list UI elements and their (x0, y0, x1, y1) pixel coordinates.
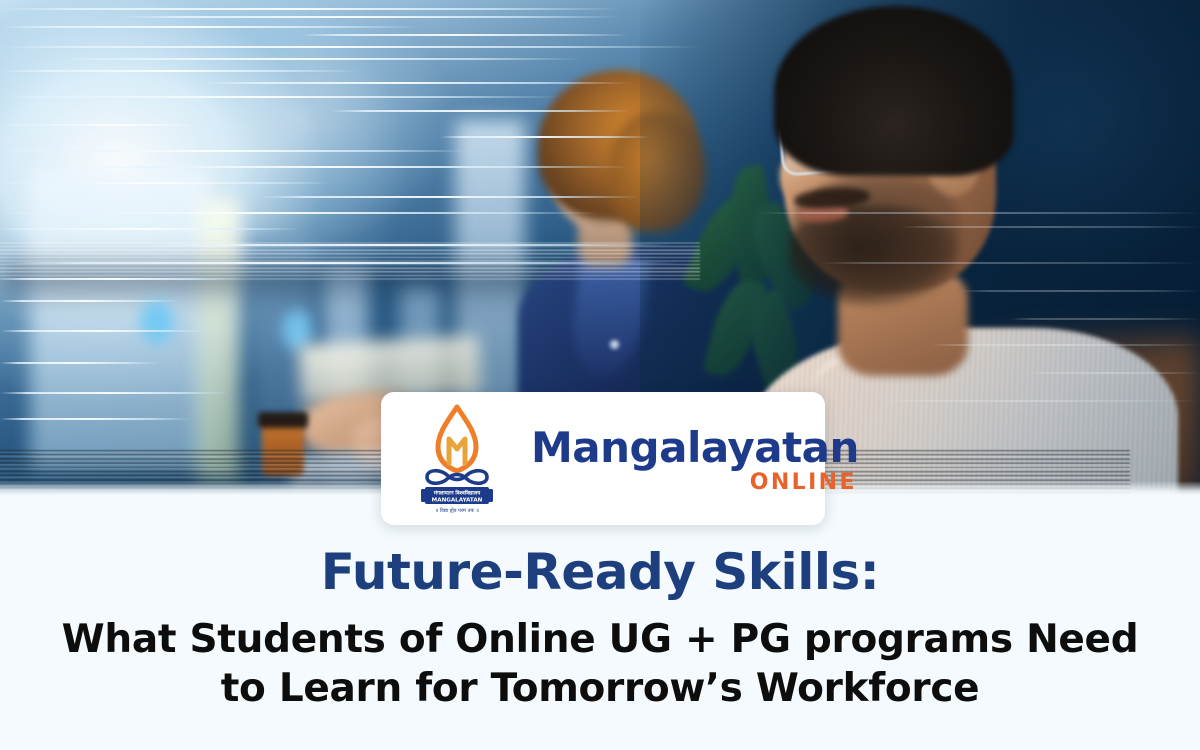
headline-block: Future-Ready Skills: What Students of On… (0, 545, 1200, 713)
logo-card[interactable]: मंगलायतन विश्वविद्यालय MANGALAYATAN ॥ वि… (381, 392, 825, 525)
wordmark-mangalayatan: Mangalayatan (531, 427, 859, 469)
mangalayatan-flame-lamp-icon: मंगलायतन विश्वविद्यालय MANGALAYATAN ॥ वि… (405, 403, 509, 515)
page-subtitle: What Students of Online UG + PG programs… (0, 615, 1200, 713)
emblem-banner-hindi: मंगलायतन विश्वविद्यालय (433, 489, 481, 496)
emblem-motto-text: ॥ विद्या ह्येव परमं तपः ॥ (435, 507, 479, 514)
blog-banner: मंगलायतन विश्वविद्यालय MANGALAYATAN ॥ वि… (0, 0, 1200, 750)
coffee-cup-lid (258, 412, 308, 428)
monitor-screen-left (30, 170, 210, 470)
page-subtitle-line-1: What Students of Online UG + PG programs… (30, 615, 1170, 664)
svg-text:MANGALAYATAN: MANGALAYATAN (432, 497, 483, 503)
monitor-screen-2 (198, 200, 240, 480)
page-title: Future-Ready Skills: (0, 545, 1200, 599)
man-hair (774, 6, 1014, 176)
coffee-cup (262, 420, 304, 476)
woman-button-1 (610, 340, 619, 349)
brand-wordmark: Mangalayatan ONLINE (531, 423, 859, 494)
wordmark-online: ONLINE (750, 472, 857, 494)
bokeh-light-1 (140, 300, 174, 344)
page-subtitle-line-2: to Learn for Tomorrow’s Workforce (30, 664, 1170, 713)
